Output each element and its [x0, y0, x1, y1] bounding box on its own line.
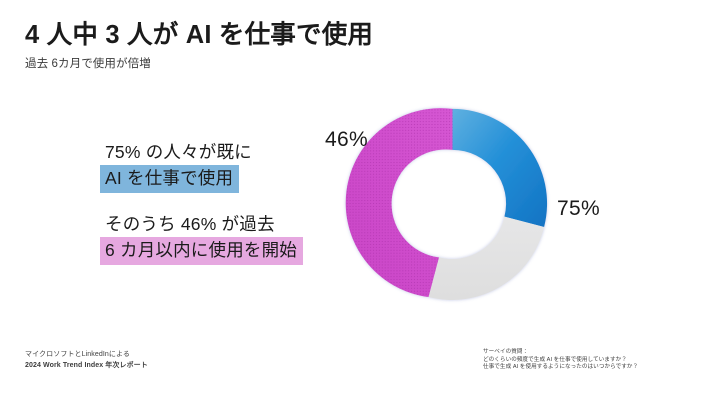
donut-label-46: 46%: [325, 128, 368, 152]
callout-using-ai-highlight: AI を仕事で使用: [100, 165, 239, 193]
footer-source-line1: マイクロソフトとLinkedInによる: [25, 350, 148, 361]
callout-started-recently-highlight: 6 カ月以内に使用を開始: [100, 237, 303, 265]
callout-using-ai: 75% の人々が既に AI を仕事で使用: [100, 140, 252, 193]
footer-survey-line3: 仕事で生成 AI を使用するようになったのはいつからですか？: [483, 364, 638, 372]
donut-chart: [355, 106, 550, 301]
callout-started-recently-plain-line: そのうち 46% が過去: [100, 212, 303, 237]
donut-segment-grey: [428, 217, 544, 300]
callout-started-recently: そのうち 46% が過去 6 カ月以内に使用を開始: [100, 212, 303, 265]
footer-survey-line1: サーベイの質問：: [483, 349, 638, 357]
donut-segment-blue: [453, 109, 548, 227]
footer-survey-questions: サーベイの質問： どのくらいの頻度で生成 AI を仕事で使用していますか？ 仕事…: [483, 349, 638, 372]
footer-source: マイクロソフトとLinkedInによる 2024 Work Trend Inde…: [25, 350, 148, 371]
callout-using-ai-plain-line: 75% の人々が既に: [100, 140, 252, 165]
page-subtitle: 過去 6カ月で使用が倍増: [25, 55, 151, 71]
slide-canvas: 4 人中 3 人が AI を仕事で使用 過去 6カ月で使用が倍増 75% の人々…: [0, 0, 711, 400]
donut-segments: [346, 108, 547, 300]
donut-label-75: 75%: [557, 197, 600, 221]
page-title: 4 人中 3 人が AI を仕事で使用: [25, 21, 373, 50]
footer-source-line2: 2024 Work Trend Index 年次レポート: [25, 361, 148, 372]
